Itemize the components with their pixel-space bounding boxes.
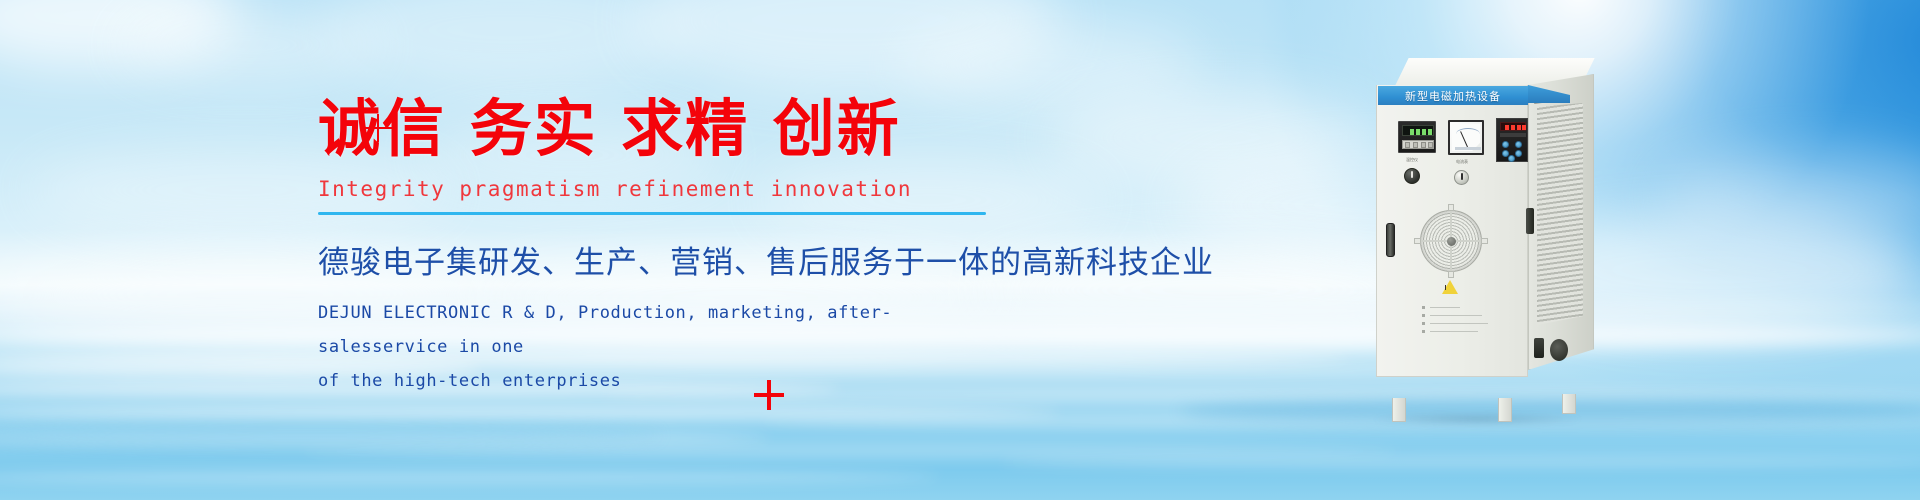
- warning-triangle-icon: [1442, 280, 1458, 294]
- product-banner: 新型电磁加热设备: [1378, 86, 1528, 105]
- fan-mount-tab: [1448, 271, 1454, 278]
- meter-label: [1455, 147, 1481, 150]
- adjust-knob[interactable]: [1454, 170, 1469, 185]
- fan-mount-tab: [1481, 238, 1488, 244]
- banner-text-block: 诚信 务实 求精 创新 Integrity pragmatism refinem…: [318, 96, 1018, 398]
- controller-display: [1402, 125, 1434, 136]
- cabinet-leg: [1562, 394, 1576, 414]
- plus-icon: [364, 114, 392, 142]
- divider: [318, 212, 986, 215]
- keypad-key[interactable]: [1515, 150, 1522, 157]
- water-streak: [0, 470, 940, 484]
- keypad-strip: [1500, 133, 1526, 137]
- ventilation-louvers: [1537, 103, 1583, 325]
- product-image-heating-equipment: 新型电磁加热设备 温控仪 电流表: [1376, 58, 1606, 400]
- headline-subtitle-en: Integrity pragmatism refinement innovati…: [318, 177, 1018, 201]
- keypad-key[interactable]: [1515, 141, 1522, 148]
- company-description-en-line2: of the high-tech enterprises: [318, 364, 1018, 398]
- fan-grille: [1420, 210, 1482, 272]
- keypad-panel[interactable]: [1496, 118, 1528, 162]
- spec-placard: [1420, 302, 1492, 342]
- company-description-en: DEJUN ELECTRONIC R & D, Production, mark…: [318, 296, 1018, 398]
- water-streak: [1000, 456, 1920, 468]
- meter-caption: 电流表: [1456, 159, 1468, 165]
- door-handle[interactable]: [1386, 223, 1395, 257]
- cable-port: [1534, 338, 1544, 358]
- controller-caption: 温控仪: [1406, 157, 1418, 163]
- fan-mount-tab: [1448, 204, 1454, 211]
- analog-meter: [1448, 120, 1484, 155]
- side-latch[interactable]: [1526, 208, 1534, 234]
- keypad-display: [1500, 122, 1526, 131]
- company-description-cn: 德骏电子集研发、生产、营销、售后服务于一体的高新科技企业: [318, 237, 1018, 282]
- product-banner-label: 新型电磁加热设备: [1405, 88, 1501, 104]
- keypad-key[interactable]: [1502, 141, 1509, 148]
- controller-buttons[interactable]: [1402, 140, 1434, 149]
- plus-icon: [754, 380, 784, 410]
- fan-mount-tab: [1414, 238, 1421, 244]
- company-description-en-line1: DEJUN ELECTRONIC R & D, Production, mark…: [318, 296, 1018, 364]
- cabinet-leg: [1498, 398, 1512, 422]
- cloud: [330, 0, 690, 90]
- cabinet-leg: [1392, 398, 1406, 422]
- round-port: [1550, 339, 1568, 361]
- fan-hub: [1447, 237, 1456, 246]
- keypad-key[interactable]: [1508, 155, 1515, 162]
- cabinet-side-panel: [1528, 74, 1594, 370]
- hero-banner: 诚信 务实 求精 创新 Integrity pragmatism refinem…: [0, 0, 1920, 500]
- meter-scale: [1456, 128, 1480, 140]
- water-streak: [300, 446, 1400, 456]
- digital-controller[interactable]: [1398, 121, 1436, 153]
- selector-knob[interactable]: [1404, 168, 1420, 184]
- page-title: 诚信 务实 求精 创新: [318, 96, 1018, 161]
